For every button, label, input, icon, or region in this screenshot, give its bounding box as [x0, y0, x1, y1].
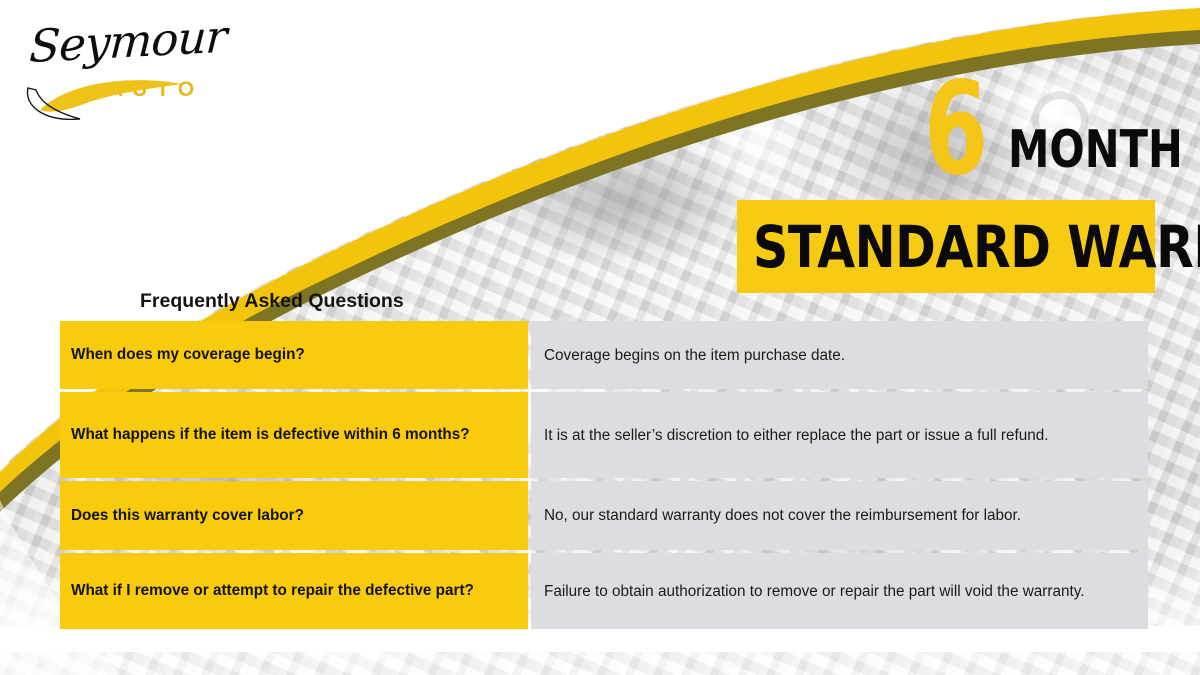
warranty-banner-title: STANDARD WARRANTY	[753, 217, 1200, 277]
brand-logo[interactable]: Seymour AUTO	[22, 16, 252, 120]
brand-script-name: Seymour	[28, 10, 228, 73]
table-row: What if I remove or attempt to repair th…	[60, 553, 1148, 629]
duration-unit: MONTH	[1008, 124, 1183, 176]
faq-question-cell: What happens if the item is defective wi…	[60, 392, 528, 478]
faq-question-cell: When does my coverage begin?	[60, 321, 528, 389]
photo-white-band	[0, 626, 1200, 652]
faq-answer-cell: Coverage begins on the item purchase dat…	[531, 321, 1148, 389]
table-row: What happens if the item is defective wi…	[60, 392, 1148, 478]
faq-answer-cell: No, our standard warranty does not cover…	[531, 481, 1148, 550]
faq-answer-text: Coverage begins on the item purchase dat…	[544, 345, 1135, 366]
logo-swoosh-icon	[22, 70, 252, 120]
faq-answer-cell: Failure to obtain authorization to remov…	[531, 553, 1148, 629]
faq-answer-text: It is at the seller’s discretion to eith…	[544, 425, 1135, 446]
faq-question-cell: Does this warranty cover labor?	[60, 481, 528, 550]
faq-answer-cell: It is at the seller’s discretion to eith…	[531, 392, 1148, 478]
warranty-slide: Seymour AUTO 6 MONTH STANDARD WARRANTY F…	[0, 0, 1200, 675]
faq-question-cell: What if I remove or attempt to repair th…	[60, 553, 528, 629]
faq-answer-text: Failure to obtain authorization to remov…	[544, 581, 1135, 602]
duration-number: 6	[924, 76, 987, 184]
faq-table: When does my coverage begin? Coverage be…	[60, 321, 1148, 629]
table-row: Does this warranty cover labor? No, our …	[60, 481, 1148, 550]
faq-heading: Frequently Asked Questions	[140, 290, 404, 313]
table-row: When does my coverage begin? Coverage be…	[60, 321, 1148, 389]
warranty-banner: STANDARD WARRANTY	[737, 200, 1155, 293]
faq-answer-text: No, our standard warranty does not cover…	[544, 505, 1135, 526]
